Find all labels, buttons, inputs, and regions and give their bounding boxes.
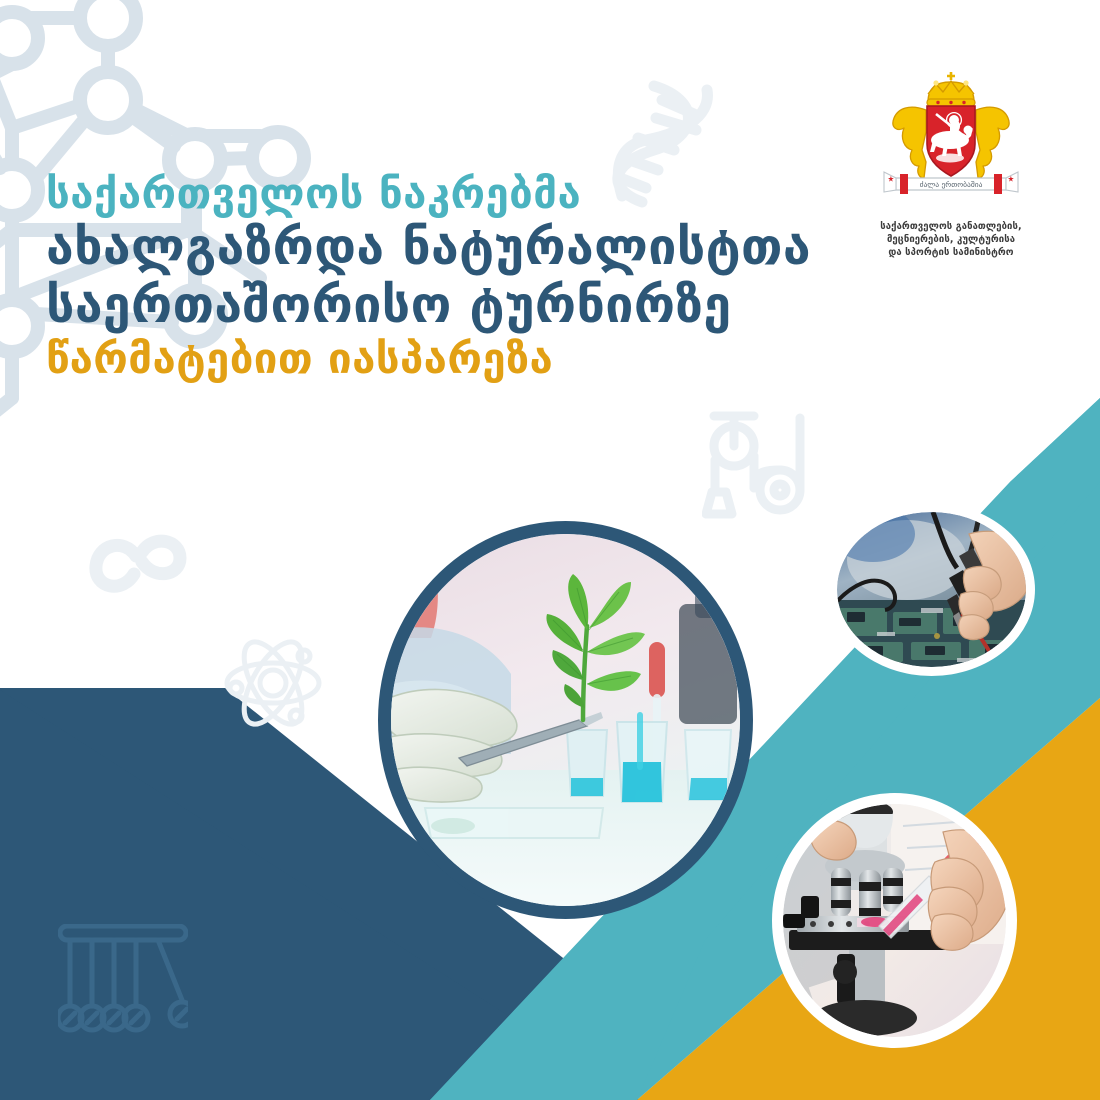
ministry-line-2: მეცნიერების, კულტურისა — [838, 233, 1064, 246]
poster-canvas: ძალა ერთობაშია საქართველოს განათლების, მ… — [0, 0, 1100, 1100]
coat-of-arms-of-georgia-icon: ძალა ერთობაშია — [878, 66, 1024, 212]
headline: საქართველოს ნაკრებმა ახალგაზრდა ნატურალი… — [46, 170, 826, 384]
circuit-board-photo — [828, 503, 1035, 676]
crown — [927, 72, 975, 106]
headline-line-2: ახალგაზრდა ნატურალისტთა — [46, 218, 826, 276]
ministry-line-3: და სპორტის სამინისტრო — [838, 246, 1064, 259]
svg-text:ძალა ერთობაშია: ძალა ერთობაშია — [920, 180, 983, 189]
headline-line-1: საქართველოს ნაკრებმა — [46, 170, 826, 218]
atom-icon — [218, 628, 328, 738]
ministry-emblem-block: ძალა ერთობაშია საქართველოს განათლების, მ… — [838, 66, 1064, 259]
headline-line-4: წარმატებით იასპარეზა — [46, 334, 826, 384]
ministry-name: საქართველოს განათლების, მეცნიერების, კულ… — [838, 220, 1064, 259]
headline-line-3: საერთაშორისო ტურნირზე — [46, 276, 826, 334]
ministry-line-1: საქართველოს განათლების, — [838, 220, 1064, 233]
microscope-photo — [772, 793, 1017, 1048]
pulley-icon — [702, 410, 822, 530]
newtons-cradle-icon — [58, 924, 188, 1042]
plant-biotech-photo — [378, 521, 753, 919]
shield — [927, 106, 975, 176]
infinity-icon — [84, 530, 194, 610]
